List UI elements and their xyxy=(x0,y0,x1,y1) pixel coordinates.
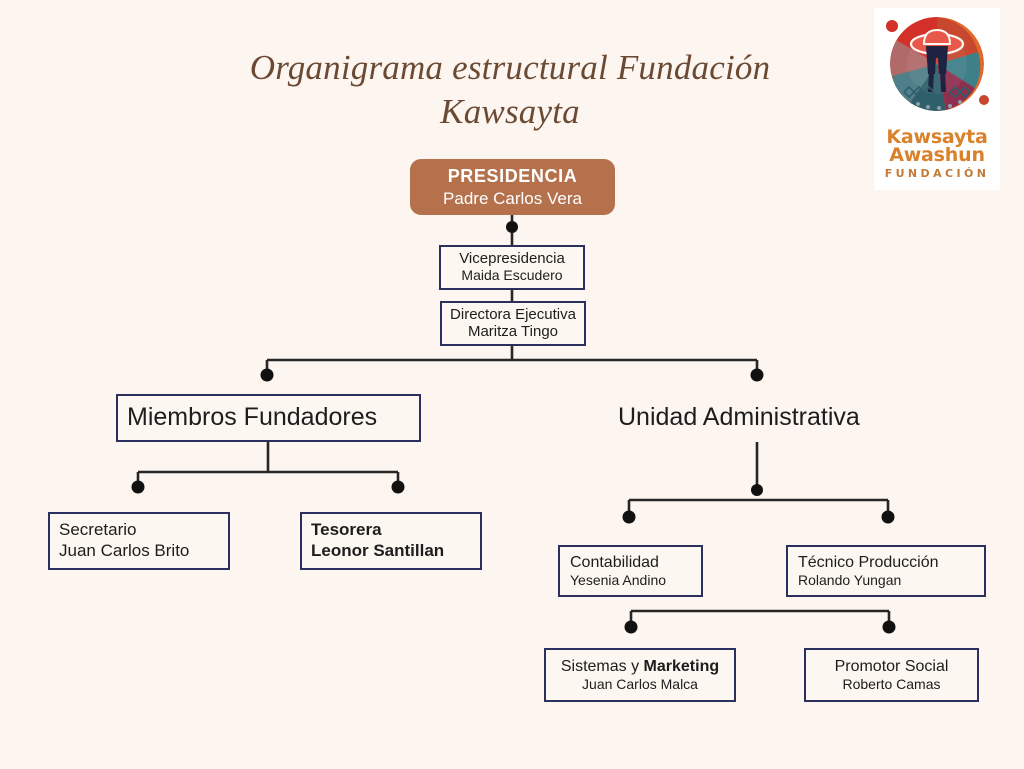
edge-dot-tesorera xyxy=(392,481,405,494)
node-contabilidad-role: Contabilidad xyxy=(570,553,659,572)
node-miembros-fundadores[interactable]: Miembros Fundadores xyxy=(116,394,421,442)
logo: Kawsayta Awashun FUNDACIÓN xyxy=(874,8,1000,190)
node-sistemas-marketing-role-emphasis: Marketing xyxy=(644,658,720,675)
edge-dot-miembros-fundadores xyxy=(261,369,274,382)
page-title: Organigrama estructural Fundación Kawsay… xyxy=(180,46,840,134)
node-contabilidad-person: Yesenia Andino xyxy=(570,572,666,589)
node-sistemas-marketing-role-prefix: Sistemas y xyxy=(561,658,644,675)
logo-emblem-icon xyxy=(874,8,1000,123)
node-presidencia[interactable]: PRESIDENCIA Padre Carlos Vera xyxy=(410,159,615,215)
edge-dot-sistemas-marketing xyxy=(625,621,638,634)
edge-dot-secretario xyxy=(132,481,145,494)
edge-dot-tecnico-produccion xyxy=(882,511,895,524)
node-promotor-social[interactable]: Promotor Social Roberto Camas xyxy=(804,648,979,702)
logo-accent-dot-orange-icon xyxy=(979,95,989,105)
org-chart-canvas: Organigrama estructural Fundación Kawsay… xyxy=(0,0,1024,769)
node-vicepresidencia-person: Maida Escudero xyxy=(461,268,562,284)
page-title-line-1: Organigrama estructural Fundación xyxy=(250,48,771,87)
edge-dot-promotor-social xyxy=(883,621,896,634)
node-unidad-administrativa-role: Unidad Administrativa xyxy=(618,404,860,432)
node-sistemas-marketing-person: Juan Carlos Malca xyxy=(582,676,698,693)
logo-accent-dot-red-icon xyxy=(886,20,898,32)
node-tesorera-person: Leonor Santillan xyxy=(311,541,444,562)
node-tecnico-produccion-role: Técnico Producción xyxy=(798,553,939,572)
node-unidad-administrativa[interactable]: Unidad Administrativa xyxy=(614,394,899,442)
edge-dot-contabilidad xyxy=(623,511,636,524)
node-secretario-person: Juan Carlos Brito xyxy=(59,541,189,562)
node-secretario-role: Secretario xyxy=(59,520,136,541)
node-secretario[interactable]: Secretario Juan Carlos Brito xyxy=(48,512,230,570)
node-sistemas-marketing-role: Sistemas y Marketing xyxy=(561,657,719,676)
node-promotor-social-person: Roberto Camas xyxy=(842,676,940,693)
page-title-line-2: Kawsayta xyxy=(440,92,580,131)
node-vicepresidencia-role: Vicepresidencia xyxy=(459,251,565,268)
node-tesorera-role: Tesorera xyxy=(311,520,382,541)
node-presidencia-person: Padre Carlos Vera xyxy=(443,189,582,209)
node-tesorera[interactable]: Tesorera Leonor Santillan xyxy=(300,512,482,570)
node-miembros-fundadores-role: Miembros Fundadores xyxy=(127,404,377,432)
logo-line-2: Awashun xyxy=(874,144,1000,166)
edge-dot-presidencia xyxy=(506,221,518,233)
logo-line-3: FUNDACIÓN xyxy=(874,167,1000,180)
node-directora-ejecutiva[interactable]: Directora Ejecutiva Maritza Tingo xyxy=(440,301,586,346)
edge-dot-admin-stem xyxy=(751,484,763,496)
node-directora-ejecutiva-role: Directora Ejecutiva xyxy=(450,307,576,324)
edge-dot-unidad-administrativa xyxy=(751,369,764,382)
node-sistemas-marketing[interactable]: Sistemas y Marketing Juan Carlos Malca xyxy=(544,648,736,702)
node-presidencia-role: PRESIDENCIA xyxy=(448,166,578,187)
node-promotor-social-role: Promotor Social xyxy=(835,657,949,676)
node-directora-ejecutiva-person: Maritza Tingo xyxy=(468,324,558,341)
node-tecnico-produccion[interactable]: Técnico Producción Rolando Yungan xyxy=(786,545,986,597)
node-tecnico-produccion-person: Rolando Yungan xyxy=(798,572,901,589)
node-vicepresidencia[interactable]: Vicepresidencia Maida Escudero xyxy=(439,245,585,290)
node-contabilidad[interactable]: Contabilidad Yesenia Andino xyxy=(558,545,703,597)
